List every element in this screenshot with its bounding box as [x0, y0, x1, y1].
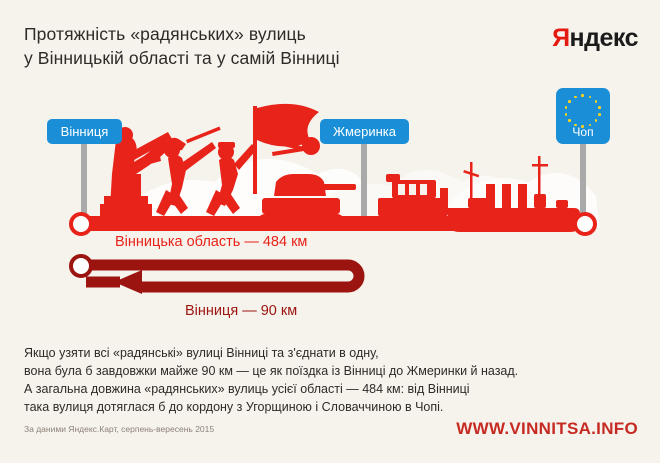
road-sign-vinnytsia: Вінниця — [47, 119, 122, 144]
marker-dot-vinnytsia-top — [69, 212, 93, 236]
body-paragraph: Якщо узяти всі «радянські» вулиці Вінниц… — [24, 344, 634, 416]
infographic-root: Протяжність «радянських» вулиць у Вінниц… — [0, 0, 660, 463]
marker-dot-chop — [573, 212, 597, 236]
bar-city-90km — [80, 258, 365, 296]
yandex-logo-rest: ндекс — [570, 24, 638, 52]
page-title: Протяжність «радянських» вулиць у Вінниц… — [24, 22, 340, 70]
road-sign-chop: Чоп — [556, 88, 610, 144]
road-sign-zhmerynka: Жмеринка — [320, 119, 409, 144]
bar-label-oblast: Вінницька область — 484 км — [115, 234, 307, 250]
sign-pole-chop — [580, 144, 586, 220]
bar-oblast-484km — [80, 216, 584, 231]
road-sign-chop-label: Чоп — [556, 126, 610, 139]
marker-dot-vinnytsia-bottom — [69, 254, 93, 278]
site-url[interactable]: WWW.VINNITSA.INFO — [456, 419, 638, 439]
bar-label-city: Вінниця — 90 км — [185, 303, 297, 319]
yandex-logo: Яндекс — [552, 26, 638, 51]
yandex-logo-ya: Я — [552, 24, 569, 52]
data-source-credit: За даними Яндекс.Карт, серпень-вересень … — [24, 424, 214, 434]
sign-pole-zhmerynka — [361, 144, 367, 224]
eu-flag-stars-icon — [564, 94, 602, 124]
